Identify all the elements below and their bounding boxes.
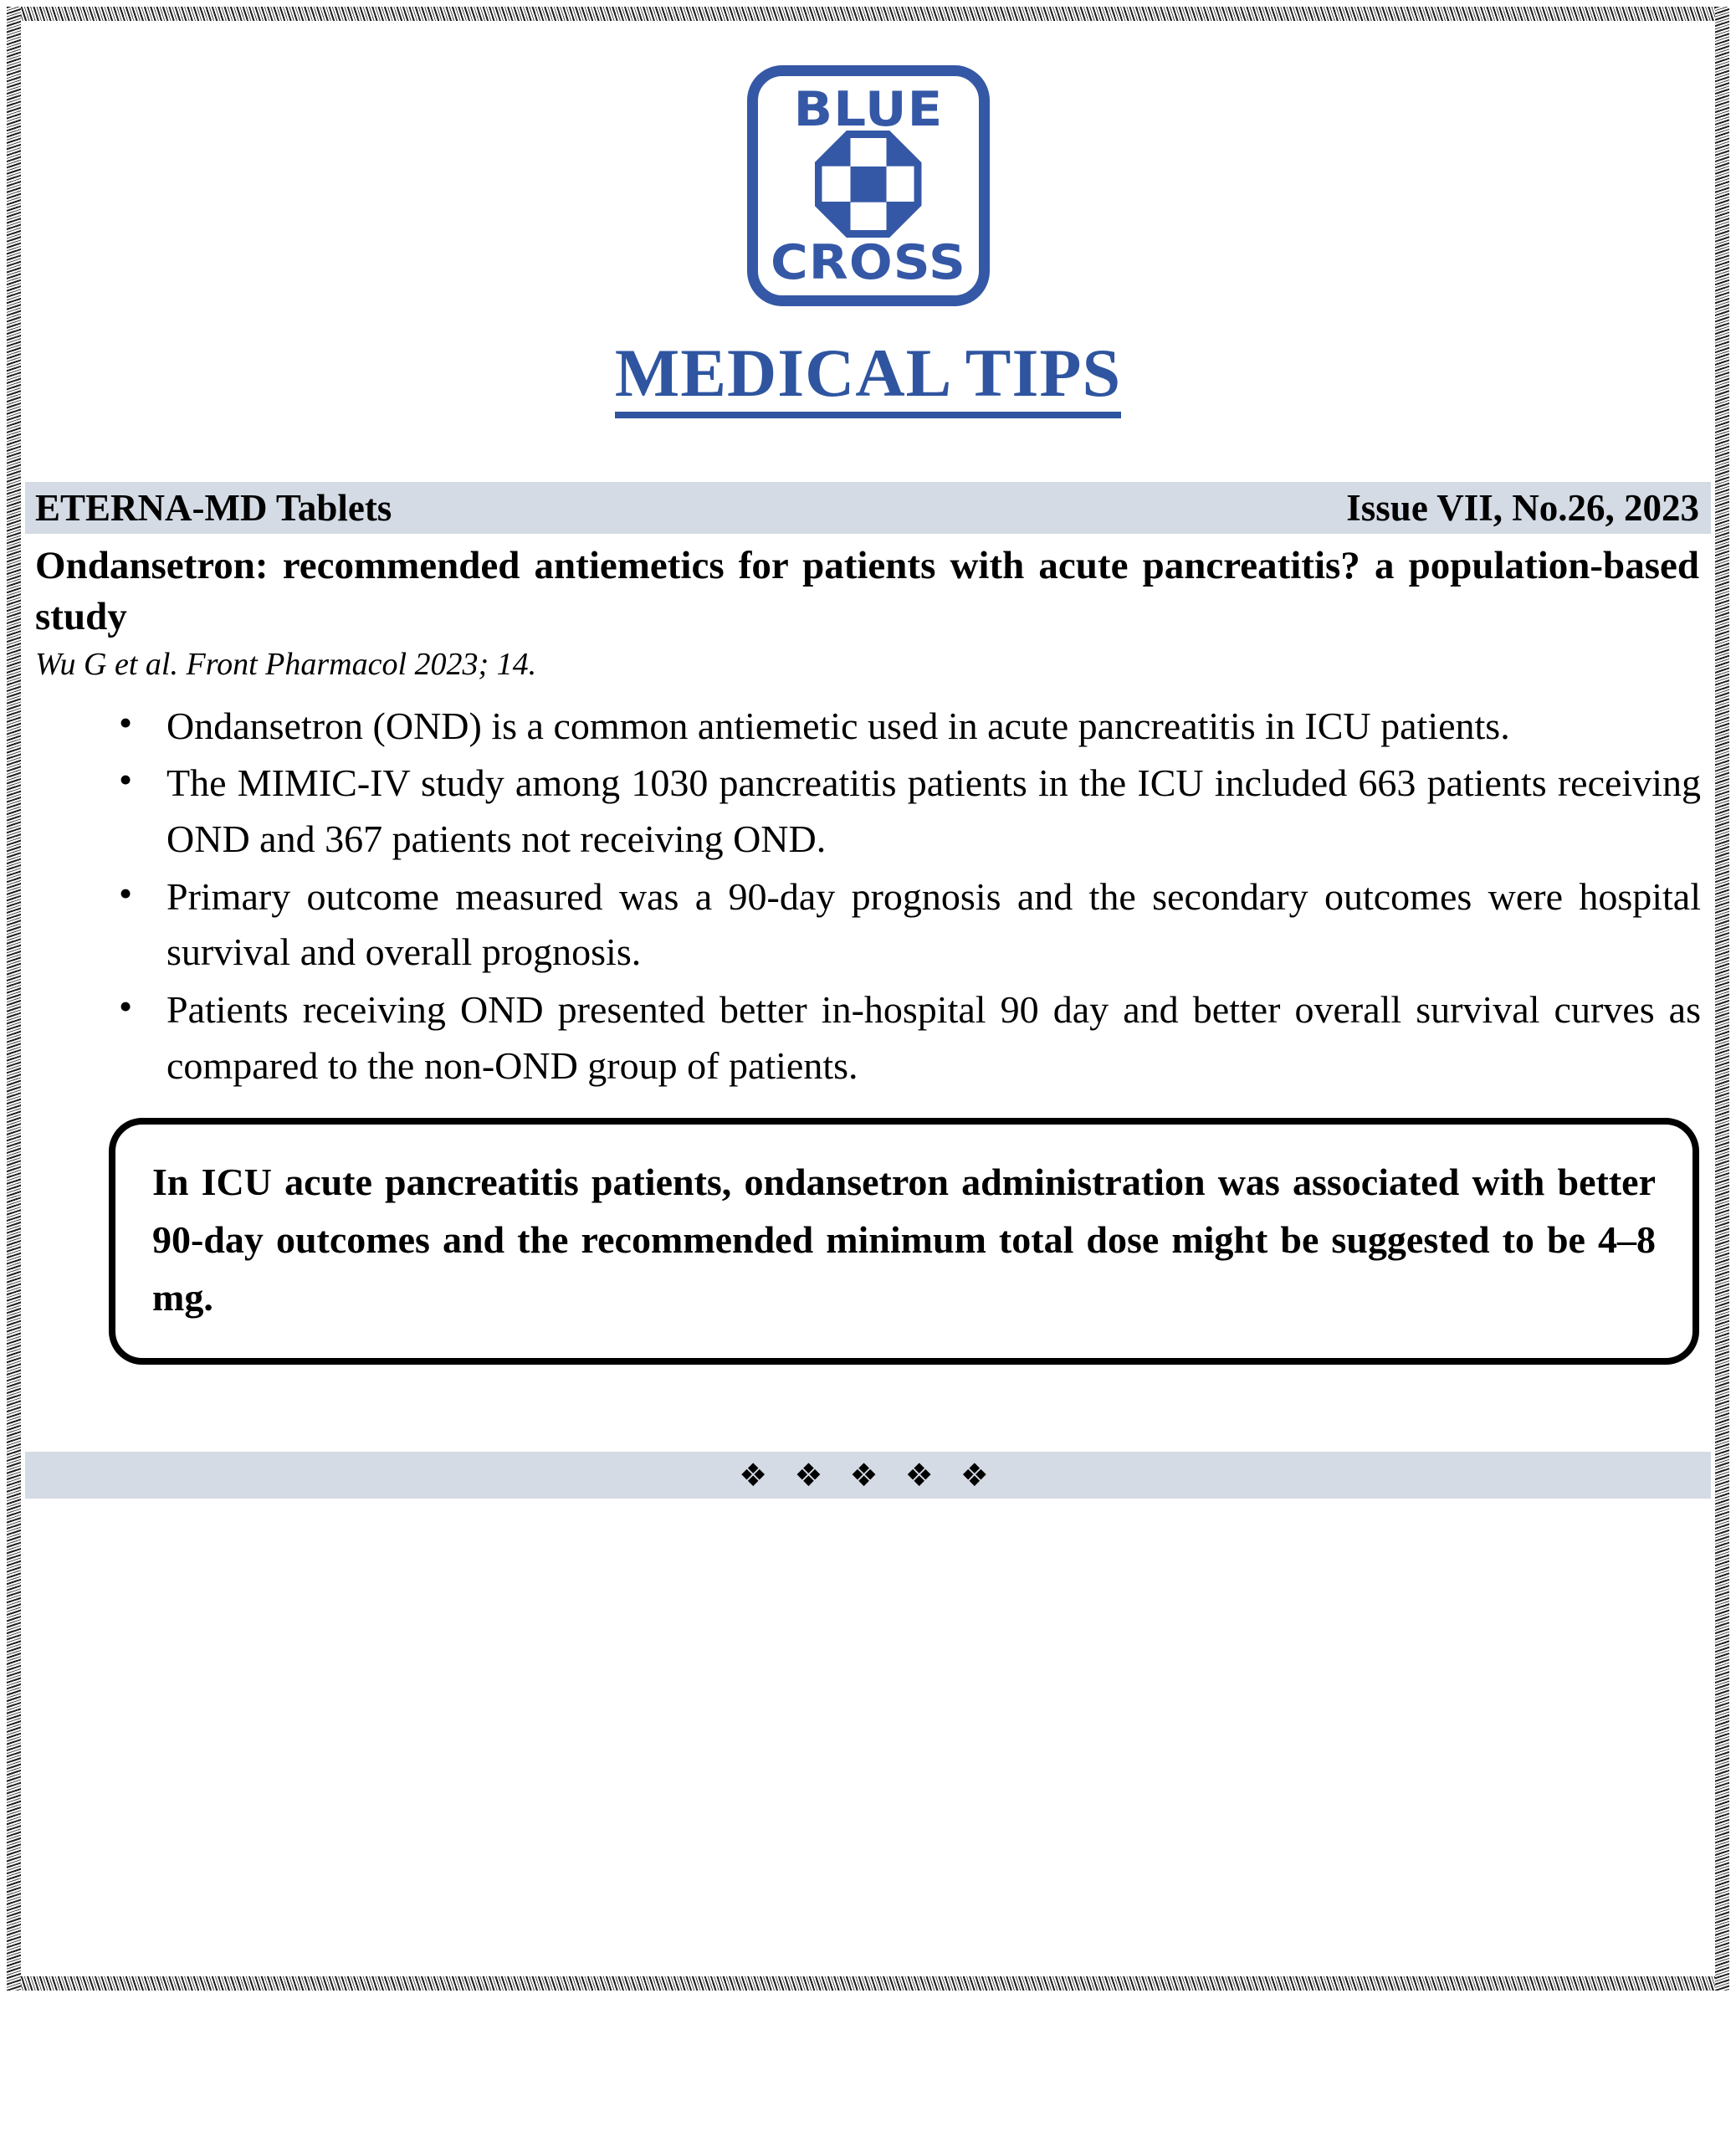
border-bottom-hatch bbox=[7, 1976, 1729, 1991]
article-bullet-list: Ondansetron (OND) is a common antiemetic… bbox=[25, 699, 1711, 1094]
blue-cross-logo: BLUE CROSS bbox=[747, 65, 990, 306]
issue-bar: ETERNA-MD Tablets Issue VII, No.26, 2023 bbox=[25, 482, 1711, 534]
conclusion-text: In ICU acute pancreatitis patients, onda… bbox=[152, 1153, 1656, 1326]
border-right-hatch bbox=[1715, 7, 1729, 1991]
logo-bottom-word: CROSS bbox=[750, 239, 986, 287]
masthead: BLUE CROSS MEDICAL TIPS bbox=[25, 22, 1711, 418]
list-item: Patients receiving OND presented better … bbox=[119, 982, 1701, 1094]
article: Ondansetron: recommended antiemetics for… bbox=[25, 541, 1711, 685]
page-content: BLUE CROSS MEDICAL TIPS ETERNA-MD Tablet… bbox=[25, 22, 1711, 1499]
issue-number: Issue VII, No.26, 2023 bbox=[1346, 489, 1699, 527]
list-item: Primary outcome measured was a 90-day pr… bbox=[119, 869, 1701, 981]
publication-title: MEDICAL TIPS bbox=[25, 339, 1711, 418]
list-item: Ondansetron (OND) is a common antiemetic… bbox=[119, 699, 1701, 755]
list-item: The MIMIC-IV study among 1030 pancreatit… bbox=[119, 756, 1701, 867]
logo-top-word: BLUE bbox=[750, 86, 986, 134]
article-citation: Wu G et al. Front Pharmacol 2023; 14. bbox=[35, 645, 1699, 685]
border-top-hatch bbox=[7, 7, 1729, 21]
footer-ornament-bar: ❖ ❖ ❖ ❖ ❖ bbox=[25, 1452, 1711, 1499]
checkerboard-octagon-icon bbox=[815, 131, 922, 238]
article-title: Ondansetron: recommended antiemetics for… bbox=[35, 541, 1699, 643]
conclusion-callout-box: In ICU acute pancreatitis patients, onda… bbox=[109, 1118, 1699, 1365]
newsletter-page: BLUE CROSS MEDICAL TIPS ETERNA-MD Tablet… bbox=[0, 0, 1736, 2142]
product-name: ETERNA-MD Tablets bbox=[35, 489, 392, 527]
border-left-hatch bbox=[7, 7, 21, 1991]
diamond-ornament-icon: ❖ ❖ ❖ ❖ ❖ bbox=[739, 1459, 997, 1491]
publication-title-text: MEDICAL TIPS bbox=[615, 339, 1121, 418]
